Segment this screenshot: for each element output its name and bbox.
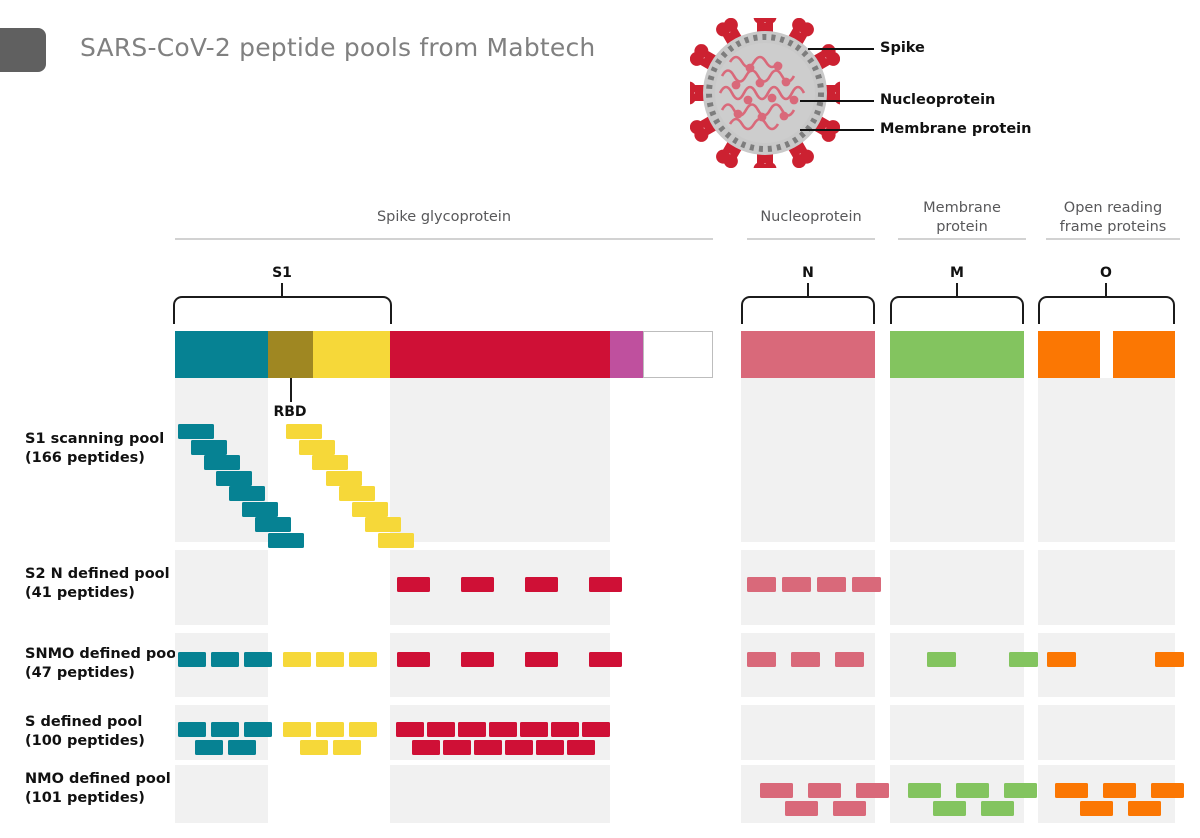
scanning-peptide-yellow-3 — [312, 455, 348, 470]
group-rule-orf — [1046, 238, 1180, 240]
protein-segment-n — [741, 331, 875, 378]
bracket-tick-m — [956, 283, 958, 296]
scanning-peptide-teal-8 — [268, 533, 304, 548]
bracket-label-m: M — [907, 265, 1007, 281]
nucleoprotein-leader-line — [800, 100, 874, 102]
s-peptide-yellow-a-2 — [316, 722, 344, 737]
s-peptide-crimson-a-6 — [551, 722, 579, 737]
s-peptide-crimson-b-3 — [474, 740, 502, 755]
snmo-peptide-crimson-1 — [397, 652, 430, 667]
bracket-m — [890, 296, 1024, 324]
scanning-peptide-teal-5 — [229, 486, 265, 501]
pool-name: S defined pool — [25, 713, 195, 732]
snmo-peptide-orange-1 — [1047, 652, 1076, 667]
pool-name: SNMO defined pool — [25, 645, 200, 664]
row-panel-s1-scanning-spike-b — [390, 378, 610, 542]
s-peptide-crimson-a-4 — [489, 722, 517, 737]
group-header-spike: Spike glycoprotein — [175, 208, 713, 227]
bracket-s1 — [173, 296, 392, 324]
snmo-peptide-crimson-3 — [525, 652, 558, 667]
bracket-label-o: O — [1056, 265, 1156, 281]
page-title: SARS-CoV-2 peptide pools from Mabtech — [80, 33, 595, 62]
group-header-orf: Open reading frame proteins — [1046, 199, 1180, 237]
pool-count: (47 peptides) — [25, 664, 200, 683]
row-panel-s1-scanning-m — [890, 378, 1024, 542]
snmo-peptide-pink-3 — [835, 652, 864, 667]
bracket-tick-o — [1105, 283, 1107, 296]
protein-segment-o2 — [1113, 331, 1175, 378]
nmo-peptide-green-a-2 — [956, 783, 989, 798]
s-peptide-teal-a-1 — [178, 722, 206, 737]
pool-label-s2n-defined: S2 N defined pool (41 peptides) — [25, 565, 195, 603]
snmo-peptide-teal-2 — [211, 652, 239, 667]
pool-count: (41 peptides) — [25, 584, 195, 603]
snmo-peptide-orange-2 — [1155, 652, 1184, 667]
s-peptide-teal-b-2 — [228, 740, 256, 755]
scanning-peptide-yellow-2 — [299, 440, 335, 455]
virus-label-membrane-protein: Membrane protein — [880, 121, 1031, 137]
virus-label-spike: Spike — [880, 40, 925, 56]
nmo-peptide-pink-b-1 — [785, 801, 818, 816]
row-panel-s-n — [741, 705, 875, 760]
nmo-peptide-orange-b-2 — [1128, 801, 1161, 816]
nmo-peptide-orange-a-3 — [1151, 783, 1184, 798]
s-peptide-teal-b-1 — [195, 740, 223, 755]
group-rule-membrane — [898, 238, 1026, 240]
scanning-peptide-teal-2 — [191, 440, 227, 455]
s2n-peptide-pink-4 — [852, 577, 881, 592]
bracket-tick-n — [807, 283, 809, 296]
row-panel-s2n-o — [1038, 550, 1175, 625]
snmo-peptide-green-2 — [1009, 652, 1038, 667]
snmo-peptide-yellow-2 — [316, 652, 344, 667]
s2n-peptide-crimson-1 — [397, 577, 430, 592]
snmo-peptide-green-1 — [927, 652, 956, 667]
s-peptide-crimson-a-2 — [427, 722, 455, 737]
pool-count: (166 peptides) — [25, 449, 185, 468]
membrane-leader-line — [800, 129, 874, 131]
scanning-peptide-yellow-4 — [326, 471, 362, 486]
nmo-peptide-green-a-3 — [1004, 783, 1037, 798]
scanning-peptide-yellow-8 — [378, 533, 414, 548]
s-peptide-crimson-b-6 — [567, 740, 595, 755]
s-peptide-yellow-b-2 — [333, 740, 361, 755]
s2n-peptide-pink-2 — [782, 577, 811, 592]
snmo-peptide-yellow-1 — [283, 652, 311, 667]
pool-count: (101 peptides) — [25, 789, 200, 808]
row-panel-s-m — [890, 705, 1024, 760]
row-panel-nmo-spike-a — [175, 765, 268, 823]
group-rule-nucleoprotein — [747, 238, 875, 240]
s-peptide-teal-a-2 — [211, 722, 239, 737]
spike-leader-line — [808, 48, 874, 50]
row-panel-s1-scanning-o — [1038, 378, 1175, 542]
pool-label-snmo-defined: SNMO defined pool (47 peptides) — [25, 645, 200, 683]
snmo-peptide-pink-1 — [747, 652, 776, 667]
nmo-peptide-pink-a-1 — [760, 783, 793, 798]
rbd-tick — [290, 378, 292, 402]
scanning-peptide-teal-4 — [216, 471, 252, 486]
s2n-peptide-pink-3 — [817, 577, 846, 592]
s-peptide-crimson-b-4 — [505, 740, 533, 755]
pool-label-s1-scanning: S1 scanning pool (166 peptides) — [25, 430, 185, 468]
scanning-peptide-yellow-7 — [365, 517, 401, 532]
row-panel-s2n-spike-a — [175, 550, 268, 625]
scanning-peptide-yellow-1 — [286, 424, 322, 439]
snmo-peptide-crimson-2 — [461, 652, 494, 667]
s-peptide-yellow-a-1 — [283, 722, 311, 737]
scanning-peptide-yellow-5 — [339, 486, 375, 501]
s-peptide-yellow-a-3 — [349, 722, 377, 737]
protein-segment-s1-cterm — [313, 331, 390, 378]
pool-name: S2 N defined pool — [25, 565, 195, 584]
scanning-peptide-yellow-6 — [352, 502, 388, 517]
snmo-peptide-crimson-4 — [589, 652, 622, 667]
nmo-peptide-orange-b-1 — [1080, 801, 1113, 816]
scanning-peptide-teal-6 — [242, 502, 278, 517]
snmo-peptide-pink-2 — [791, 652, 820, 667]
s2n-peptide-crimson-4 — [589, 577, 622, 592]
bracket-o — [1038, 296, 1175, 324]
scanning-peptide-teal-1 — [178, 424, 214, 439]
s-peptide-crimson-b-2 — [443, 740, 471, 755]
bracket-n — [741, 296, 875, 324]
pool-name: S1 scanning pool — [25, 430, 185, 449]
row-panel-s2n-m — [890, 550, 1024, 625]
s-peptide-crimson-a-7 — [582, 722, 610, 737]
protein-segment-s2 — [390, 331, 610, 378]
snmo-peptide-teal-3 — [244, 652, 272, 667]
s-peptide-crimson-a-5 — [520, 722, 548, 737]
nmo-peptide-pink-b-2 — [833, 801, 866, 816]
row-panel-s-o — [1038, 705, 1175, 760]
s-peptide-crimson-b-1 — [412, 740, 440, 755]
snmo-peptide-teal-1 — [178, 652, 206, 667]
gray-tab-icon — [0, 28, 46, 72]
scanning-peptide-teal-3 — [204, 455, 240, 470]
nmo-peptide-pink-a-3 — [856, 783, 889, 798]
pool-label-nmo-defined: NMO defined pool (101 peptides) — [25, 770, 200, 808]
s-peptide-crimson-b-5 — [536, 740, 564, 755]
scanning-peptide-teal-7 — [255, 517, 291, 532]
nmo-peptide-orange-a-2 — [1103, 783, 1136, 798]
snmo-peptide-yellow-3 — [349, 652, 377, 667]
protein-segment-o1 — [1038, 331, 1100, 378]
group-header-nucleoprotein: Nucleoprotein — [747, 208, 875, 227]
protein-segment-m — [890, 331, 1024, 378]
bracket-tick-s1 — [281, 283, 283, 296]
bracket-label-n: N — [758, 265, 858, 281]
coronavirus-particle-icon — [690, 18, 840, 168]
nmo-peptide-green-b-2 — [981, 801, 1014, 816]
row-panel-nmo-spike-b — [390, 765, 610, 823]
s-peptide-yellow-b-1 — [300, 740, 328, 755]
row-panel-snmo-m — [890, 633, 1024, 697]
protein-segment-s2-tail — [610, 331, 643, 378]
group-rule-spike — [175, 238, 713, 240]
s2n-peptide-pink-1 — [747, 577, 776, 592]
nmo-peptide-orange-a-1 — [1055, 783, 1088, 798]
bracket-label-s1: S1 — [232, 265, 332, 281]
pool-label-s-defined: S defined pool (100 peptides) — [25, 713, 195, 751]
protein-segment-s1-nterm — [175, 331, 268, 378]
protein-segment-rbd — [268, 331, 313, 378]
nmo-peptide-pink-a-2 — [808, 783, 841, 798]
s2n-peptide-crimson-3 — [525, 577, 558, 592]
row-panel-s1-scanning-n — [741, 378, 875, 542]
nmo-peptide-green-b-1 — [933, 801, 966, 816]
s-peptide-crimson-a-1 — [396, 722, 424, 737]
s2n-peptide-crimson-2 — [461, 577, 494, 592]
group-header-membrane: Membrane protein — [898, 199, 1026, 237]
pool-count: (100 peptides) — [25, 732, 195, 751]
virus-label-nucleoprotein: Nucleoprotein — [880, 92, 995, 108]
s-peptide-crimson-a-3 — [458, 722, 486, 737]
s-peptide-teal-a-3 — [244, 722, 272, 737]
nmo-peptide-green-a-1 — [908, 783, 941, 798]
pool-name: NMO defined pool — [25, 770, 200, 789]
protein-segment-cytoplasmic — [643, 331, 713, 378]
